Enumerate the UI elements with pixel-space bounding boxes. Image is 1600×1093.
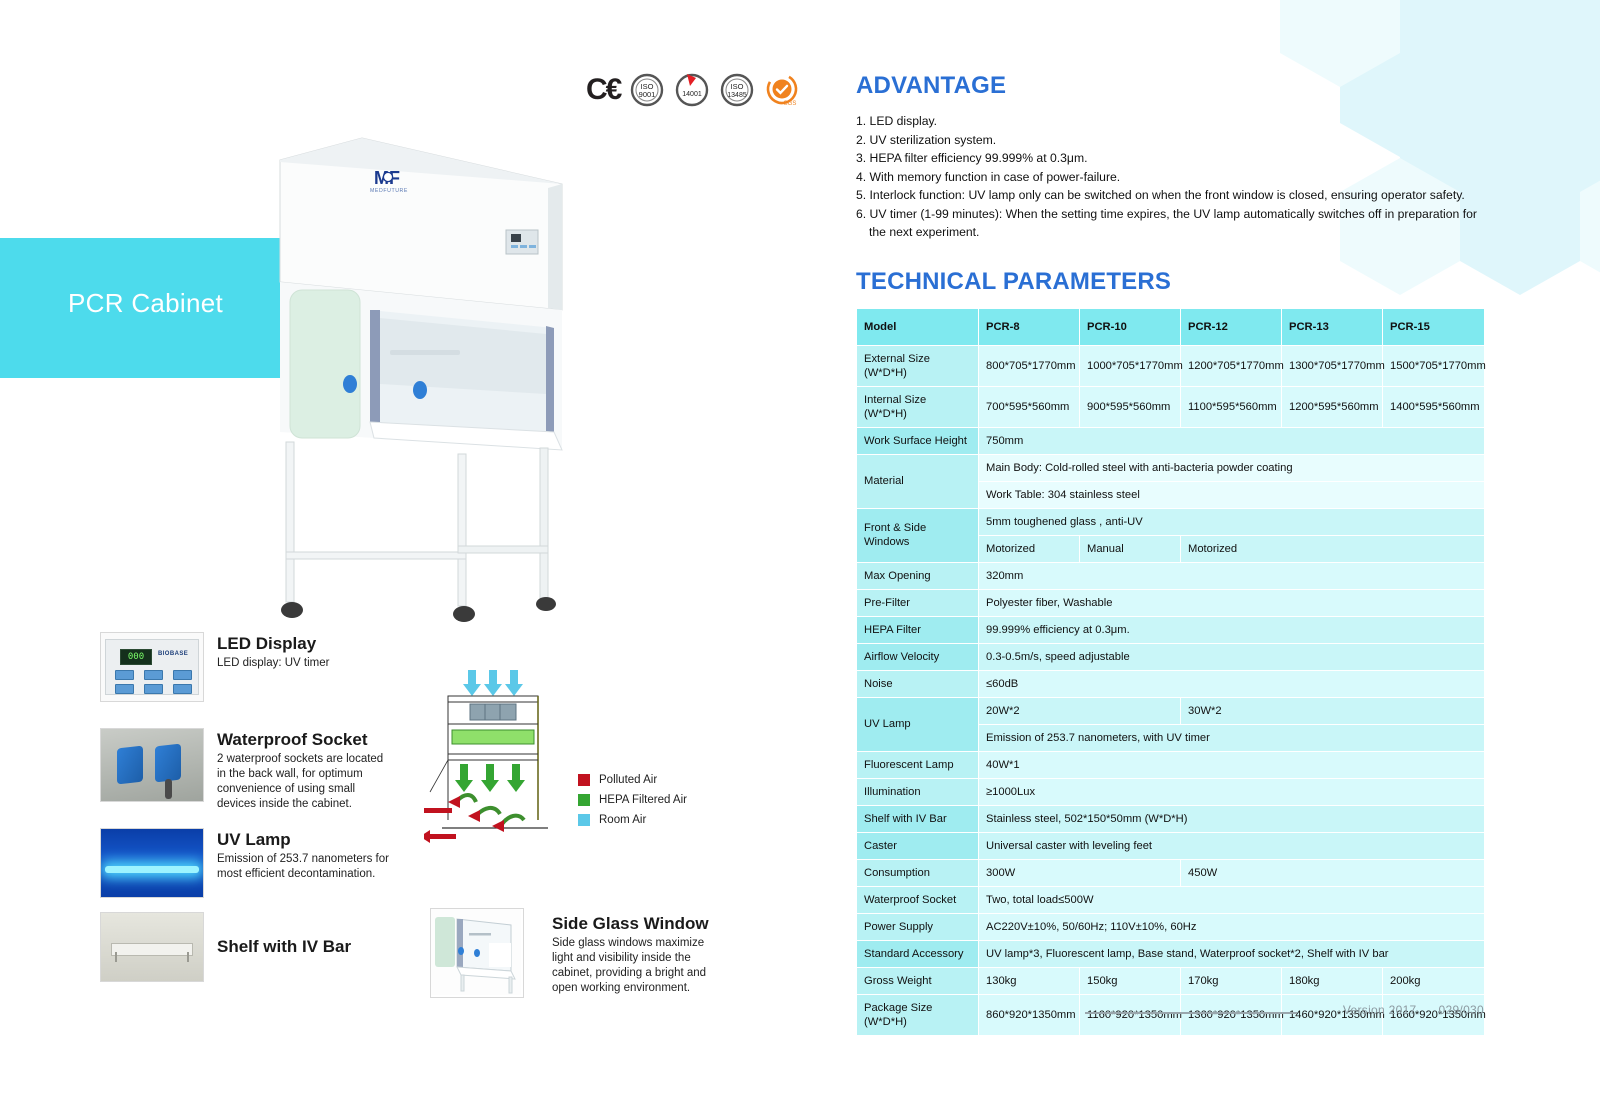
uv-lamp-photo-icon bbox=[100, 828, 204, 898]
row-value: 700*595*560mm bbox=[979, 386, 1080, 427]
table-header-row: Model PCR-8 PCR-10 PCR-12 PCR-13 PCR-15 bbox=[857, 308, 1485, 345]
row-label: Illumination bbox=[857, 778, 979, 805]
row-label: UV Lamp bbox=[857, 697, 979, 751]
row-label: Consumption bbox=[857, 859, 979, 886]
table-row: Front & Side Windows 5mm toughened glass… bbox=[857, 508, 1485, 535]
row-label: Gross Weight bbox=[857, 967, 979, 994]
row-value: AC220V±10%, 50/60Hz; 110V±10%, 60Hz bbox=[979, 913, 1485, 940]
footer-text: Version 2017029/030 bbox=[1321, 1003, 1484, 1017]
row-label: Shelf with IV Bar bbox=[857, 805, 979, 832]
row-value: ≤60dB bbox=[979, 670, 1485, 697]
airflow-legend: Polluted Air HEPA Filtered Air Room Air bbox=[578, 770, 687, 830]
footer-rule bbox=[1085, 1012, 1297, 1014]
product-photo-pcr-cabinet: M F MEDFUTURE bbox=[262, 132, 582, 652]
row-value: 180kg bbox=[1282, 967, 1383, 994]
table-header-cell: PCR-13 bbox=[1282, 308, 1383, 345]
advantage-item-continuation: the next experiment. bbox=[856, 223, 1484, 242]
table-row: Gross Weight 130kg 150kg 170kg 180kg 200… bbox=[857, 967, 1485, 994]
legend-label: Polluted Air bbox=[599, 774, 657, 786]
row-value: 750mm bbox=[979, 427, 1485, 454]
row-value: 300W bbox=[979, 859, 1181, 886]
advantage-item: 1. LED display. bbox=[856, 112, 1484, 131]
table-row: Pre-Filter Polyester fiber, Washable bbox=[857, 589, 1485, 616]
row-value: 5mm toughened glass , anti-UV bbox=[979, 508, 1485, 535]
page-title: PCR Cabinet bbox=[68, 288, 223, 319]
row-label: Material bbox=[857, 454, 979, 508]
table-row: Internal Size (W*D*H) 700*595*560mm 900*… bbox=[857, 386, 1485, 427]
svg-text:ISO: ISO bbox=[731, 82, 744, 91]
row-value: 20W*2 bbox=[979, 697, 1181, 724]
legend-swatch-hepa-filtered-air bbox=[578, 794, 590, 806]
row-value: 170kg bbox=[1181, 967, 1282, 994]
feature-led-display: 000 BIOBASE LED Display LED display: UV … bbox=[100, 632, 329, 702]
row-value: 1200*595*560mm bbox=[1282, 386, 1383, 427]
table-row: Power Supply AC220V±10%, 50/60Hz; 110V±1… bbox=[857, 913, 1485, 940]
led-brand-label: BIOBASE bbox=[158, 651, 188, 657]
legend-swatch-polluted-air bbox=[578, 774, 590, 786]
side-glass-window-title: Side Glass Window bbox=[552, 914, 728, 934]
iso-13485-icon: ISO13485 bbox=[719, 72, 755, 108]
row-value: UV lamp*3, Fluorescent lamp, Base stand,… bbox=[979, 940, 1485, 967]
table-row: Illumination ≥1000Lux bbox=[857, 778, 1485, 805]
catalog-page: C€ ISO9001 14001 ISO13485 SGS PCR Cabine… bbox=[0, 0, 1600, 1093]
table-row: Waterproof Socket Two, total load≤500W bbox=[857, 886, 1485, 913]
advantage-item: 4. With memory function in case of power… bbox=[856, 168, 1484, 187]
waterproof-socket-photo-icon bbox=[100, 728, 204, 802]
svg-text:14001: 14001 bbox=[683, 91, 703, 98]
feature-uv-lamp: UV Lamp Emission of 253.7 nanometers for… bbox=[100, 828, 393, 898]
technical-parameters-table: Model PCR-8 PCR-10 PCR-12 PCR-13 PCR-15 … bbox=[856, 308, 1485, 1036]
table-row: Fluorescent Lamp 40W*1 bbox=[857, 751, 1485, 778]
svg-text:MEDFUTURE: MEDFUTURE bbox=[370, 188, 408, 194]
footer-pages: 029/030 bbox=[1439, 1003, 1484, 1017]
row-label: Noise bbox=[857, 670, 979, 697]
table-header-cell: PCR-12 bbox=[1181, 308, 1282, 345]
table-header-cell: PCR-8 bbox=[979, 308, 1080, 345]
row-value: 1300*705*1770mm bbox=[1282, 345, 1383, 386]
side-glass-window-text: Side Glass Window Side glass windows max… bbox=[552, 914, 728, 996]
row-value: Two, total load≤500W bbox=[979, 886, 1485, 913]
technical-parameters-heading: TECHNICAL PARAMETERS bbox=[856, 268, 1484, 296]
row-value: 320mm bbox=[979, 562, 1485, 589]
footer-version: Version 2017 bbox=[1343, 1003, 1417, 1017]
row-label: Airflow Velocity bbox=[857, 643, 979, 670]
feature-title: LED Display bbox=[217, 634, 329, 654]
feature-title: Shelf with IV Bar bbox=[217, 937, 351, 957]
row-value: Universal caster with leveling feet bbox=[979, 832, 1485, 859]
shelf-iv-bar-photo-icon bbox=[100, 912, 204, 982]
svg-text:13485: 13485 bbox=[728, 92, 748, 99]
right-column: ADVANTAGE 1. LED display. 2. UV steriliz… bbox=[856, 72, 1484, 1036]
ce-mark-icon: C€ bbox=[586, 75, 620, 105]
svg-text:SGS: SGS bbox=[784, 101, 797, 107]
iso-14001-icon: 14001 bbox=[674, 72, 710, 108]
table-row: Standard Accessory UV lamp*3, Fluorescen… bbox=[857, 940, 1485, 967]
row-value: 1400*595*560mm bbox=[1383, 386, 1485, 427]
row-label: External Size (W*D*H) bbox=[857, 345, 979, 386]
side-glass-window-photo-icon bbox=[430, 908, 524, 998]
row-label: Max Opening bbox=[857, 562, 979, 589]
iso-9001-icon: ISO9001 bbox=[629, 72, 665, 108]
row-value: 130kg bbox=[979, 967, 1080, 994]
row-value: 900*595*560mm bbox=[1080, 386, 1181, 427]
row-value: Main Body: Cold-rolled steel with anti-b… bbox=[979, 454, 1485, 481]
legend-item: Polluted Air bbox=[578, 770, 687, 790]
row-value: 40W*1 bbox=[979, 751, 1485, 778]
feature-title: Waterproof Socket bbox=[217, 730, 393, 750]
feature-desc: 2 waterproof sockets are located in the … bbox=[217, 752, 393, 813]
table-row: Consumption 300W 450W bbox=[857, 859, 1485, 886]
svg-text:9001: 9001 bbox=[639, 90, 656, 99]
table-row: Shelf with IV Bar Stainless steel, 502*1… bbox=[857, 805, 1485, 832]
advantage-item: 3. HEPA filter efficiency 99.999% at 0.3… bbox=[856, 149, 1484, 168]
row-value: 450W bbox=[1181, 859, 1485, 886]
row-value: 99.999% efficiency at 0.3μm. bbox=[979, 616, 1485, 643]
row-value: Stainless steel, 502*150*50mm (W*D*H) bbox=[979, 805, 1485, 832]
row-value: 1500*705*1770mm bbox=[1383, 345, 1485, 386]
legend-item: Room Air bbox=[578, 810, 687, 830]
product-title-band: PCR Cabinet bbox=[0, 238, 296, 378]
table-row: Caster Universal caster with leveling fe… bbox=[857, 832, 1485, 859]
row-value: Motorized bbox=[1181, 535, 1485, 562]
feature-waterproof-socket: Waterproof Socket 2 waterproof sockets a… bbox=[100, 728, 393, 812]
row-label: Waterproof Socket bbox=[857, 886, 979, 913]
row-value: ≥1000Lux bbox=[979, 778, 1485, 805]
row-value: Motorized bbox=[979, 535, 1080, 562]
legend-item: HEPA Filtered Air bbox=[578, 790, 687, 810]
row-value: 1100*595*560mm bbox=[1181, 386, 1282, 427]
feature-desc: LED display: UV timer bbox=[217, 656, 329, 671]
legend-label: HEPA Filtered Air bbox=[599, 794, 687, 806]
table-row: Work Surface Height 750mm bbox=[857, 427, 1485, 454]
row-label: Work Surface Height bbox=[857, 427, 979, 454]
row-value: 30W*2 bbox=[1181, 697, 1485, 724]
table-header-cell: Model bbox=[857, 308, 979, 345]
row-value: 800*705*1770mm bbox=[979, 345, 1080, 386]
advantage-item: 6. UV timer (1-99 minutes): When the set… bbox=[856, 205, 1484, 224]
advantage-heading: ADVANTAGE bbox=[856, 72, 1484, 100]
led-display-panel-icon: 000 BIOBASE bbox=[100, 632, 204, 702]
row-label: Fluorescent Lamp bbox=[857, 751, 979, 778]
advantage-item: 5. Interlock function: UV lamp only can … bbox=[856, 186, 1484, 205]
row-value: Work Table: 304 stainless steel bbox=[979, 481, 1485, 508]
row-value: Polyester fiber, Washable bbox=[979, 589, 1485, 616]
feature-desc: Emission of 253.7 nanometers for most ef… bbox=[217, 852, 393, 882]
table-row: Max Opening 320mm bbox=[857, 562, 1485, 589]
row-label: Internal Size (W*D*H) bbox=[857, 386, 979, 427]
legend-label: Room Air bbox=[599, 814, 646, 826]
row-label: Pre-Filter bbox=[857, 589, 979, 616]
table-row: Noise ≤60dB bbox=[857, 670, 1485, 697]
table-row: UV Lamp 20W*2 30W*2 bbox=[857, 697, 1485, 724]
page-footer: Version 2017029/030 bbox=[0, 999, 1600, 1025]
row-value: Emission of 253.7 nanometers, with UV ti… bbox=[979, 724, 1485, 751]
feature-title: UV Lamp bbox=[217, 830, 393, 850]
table-header-cell: PCR-15 bbox=[1383, 308, 1485, 345]
sgs-icon: SGS bbox=[764, 72, 800, 108]
side-glass-window-desc: Side glass windows maximize light and vi… bbox=[552, 936, 728, 997]
row-value: 150kg bbox=[1080, 967, 1181, 994]
row-label: Power Supply bbox=[857, 913, 979, 940]
row-label: Caster bbox=[857, 832, 979, 859]
advantage-item: 2. UV sterilization system. bbox=[856, 131, 1484, 150]
legend-swatch-room-air bbox=[578, 814, 590, 826]
row-label: Front & Side Windows bbox=[857, 508, 979, 562]
advantage-list: 1. LED display. 2. UV sterilization syst… bbox=[856, 112, 1484, 242]
row-label: Standard Accessory bbox=[857, 940, 979, 967]
certification-badges: C€ ISO9001 14001 ISO13485 SGS bbox=[586, 72, 800, 108]
table-row: Material Main Body: Cold-rolled steel wi… bbox=[857, 454, 1485, 481]
row-value: 200kg bbox=[1383, 967, 1485, 994]
feature-shelf-iv-bar: Shelf with IV Bar bbox=[100, 912, 351, 982]
table-header-cell: PCR-10 bbox=[1080, 308, 1181, 345]
row-value: 1000*705*1770mm bbox=[1080, 345, 1181, 386]
table-row: Airflow Velocity 0.3-0.5m/s, speed adjus… bbox=[857, 643, 1485, 670]
table-row: External Size (W*D*H) 800*705*1770mm 100… bbox=[857, 345, 1485, 386]
row-label: HEPA Filter bbox=[857, 616, 979, 643]
row-value: 0.3-0.5m/s, speed adjustable bbox=[979, 643, 1485, 670]
table-row: HEPA Filter 99.999% efficiency at 0.3μm. bbox=[857, 616, 1485, 643]
row-value: 1200*705*1770mm bbox=[1181, 345, 1282, 386]
row-value: Manual bbox=[1080, 535, 1181, 562]
led-screen: 000 bbox=[120, 649, 152, 665]
